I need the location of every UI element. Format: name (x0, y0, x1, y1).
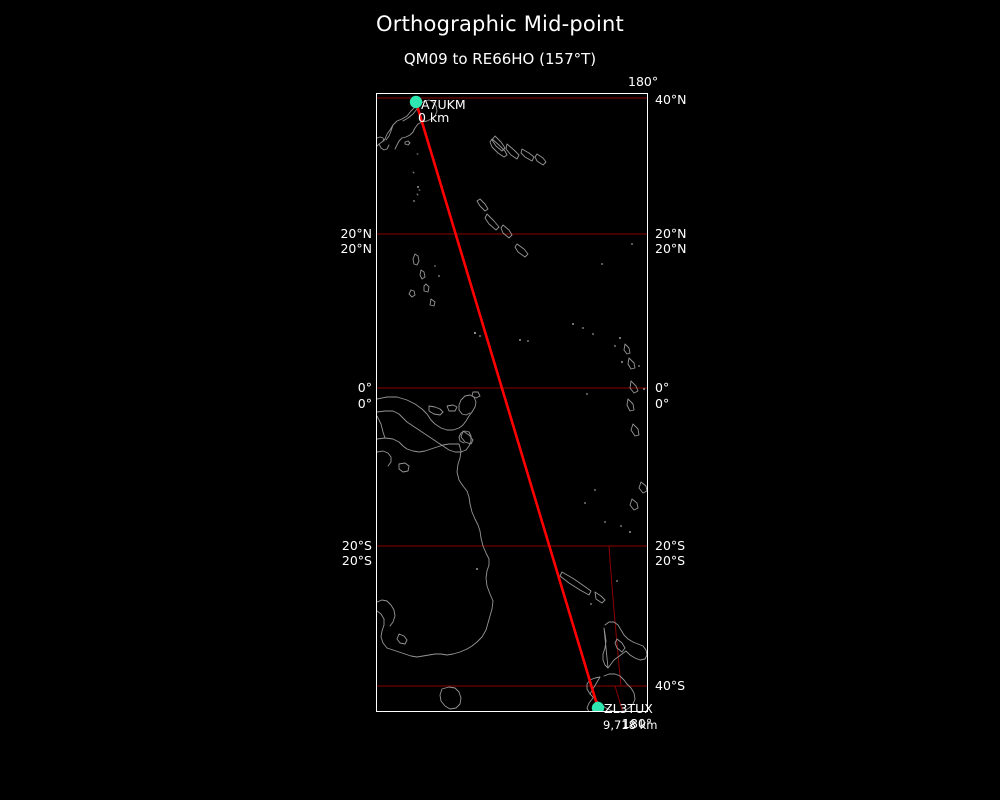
lat-tick-right-0-a: 0° (655, 380, 669, 395)
lat-tick-left-20n-a: 20°N (276, 226, 372, 241)
endpoint-label-start-distance: 0 km (418, 111, 449, 125)
lat-tick-right-20s-b: 20°S (655, 553, 685, 568)
coastlines-melanesia (560, 344, 647, 603)
lat-tick-right-40n: 40°N (655, 92, 687, 107)
lat-tick-right-40s: 40°S (655, 678, 685, 693)
lat-tick-left-20n-b: 20°N (276, 241, 372, 256)
ocean-island-specks (413, 186, 645, 605)
lat-tick-left-20s-b: 20°S (276, 553, 372, 568)
lat-tick-right-0-b: 0° (655, 396, 669, 411)
endpoint-label-end-callsign: ZL3TUX (604, 702, 653, 716)
coastlines-island-arc (409, 254, 435, 306)
longitude-label-top: 180° (628, 74, 658, 89)
lat-tick-left-0-b: 0° (276, 396, 372, 411)
lat-tick-left-0-a: 0° (276, 380, 372, 395)
page-title: Orthographic Mid-point (0, 12, 1000, 36)
coastlines-new-guinea (377, 392, 480, 452)
screenshot-root: Orthographic Mid-point QM09 to RE66HO (1… (0, 0, 1000, 800)
map-plot-area[interactable] (376, 93, 648, 712)
lat-tick-right-20n-a: 20°N (655, 226, 687, 241)
page-subtitle: QM09 to RE66HO (157°T) (0, 50, 1000, 68)
endpoint-label-end-distance: 9,718 km (603, 718, 657, 732)
marker-end (592, 702, 604, 712)
map-canvas (377, 94, 648, 712)
great-circle-path (416, 102, 598, 708)
coastlines-australia (377, 438, 493, 709)
lat-tick-right-20s-a: 20°S (655, 538, 685, 553)
lat-tick-right-20n-b: 20°N (655, 241, 687, 256)
coastlines-solomon-islands (477, 136, 546, 257)
lat-tick-left-20s-a: 20°S (276, 538, 372, 553)
